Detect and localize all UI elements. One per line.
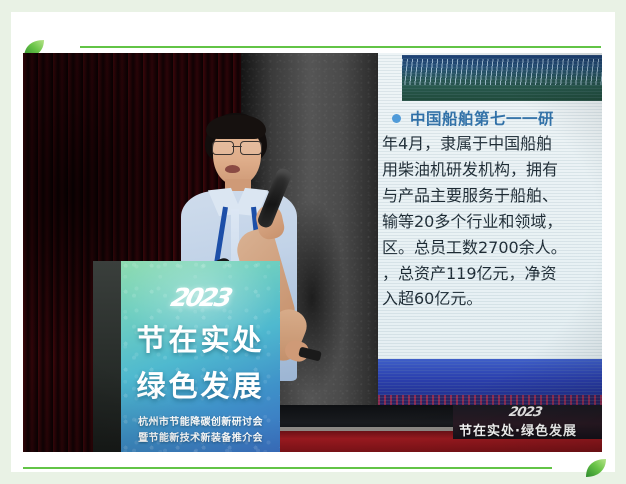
podium: 2023 节在实处 绿色发展 杭州市节能降碳创新研讨会 暨节能新技术新装备推介会 — [93, 261, 280, 452]
glasses-icon — [212, 141, 262, 153]
slide-line: 与产品主要服务于船舶、 — [382, 183, 602, 209]
bullet-icon — [392, 114, 401, 123]
slide-header-image — [402, 55, 602, 101]
podium-subtitle-line2: 暨节能新技术新装备推介会 — [121, 429, 280, 444]
podium-title-line2: 绿色发展 — [121, 363, 280, 405]
bottom-rule — [23, 467, 552, 469]
speaker-mouth — [225, 165, 240, 173]
stage-banner-text: 节在实处·绿色发展 — [459, 420, 602, 439]
slide-line: 区。总员工数2700余人。 — [382, 235, 602, 261]
inner-card: 中国船舶第七一一研 年4月，隶属于中国船舶 用柴油机研发机构，拥有 与产品主要服… — [11, 12, 615, 472]
podium-subtitle-line1: 杭州市节能降碳创新研讨会 — [121, 413, 280, 428]
slide-heading: 中国船舶第七一一研 — [410, 107, 554, 129]
slide-line: 用柴油机研发机构，拥有 — [382, 157, 602, 183]
slide-line: 年4月，隶属于中国船舶 — [382, 131, 602, 157]
podium-year-logo: 2023 — [121, 283, 280, 312]
podium-side-panel — [93, 261, 123, 452]
slide-text-lines: 年4月，隶属于中国船舶 用柴油机研发机构，拥有 与产品主要服务于船舶、 输等20… — [382, 131, 602, 312]
leaf-icon — [585, 458, 607, 478]
slide-body: 中国船舶第七一一研 年4月，隶属于中国船舶 用柴油机研发机构，拥有 与产品主要服… — [378, 101, 602, 359]
slide-line: 入超60亿元。 — [382, 286, 602, 312]
podium-sign: 2023 节在实处 绿色发展 杭州市节能降碳创新研讨会 暨节能新技术新装备推介会 — [121, 261, 280, 452]
conference-photo: 中国船舶第七一一研 年4月，隶属于中国船舶 用柴油机研发机构，拥有 与产品主要服… — [23, 53, 602, 452]
slide-image-texture — [402, 59, 602, 85]
glasses-lens-left — [212, 141, 234, 155]
page-frame: 中国船舶第七一一研 年4月，隶属于中国船舶 用柴油机研发机构，拥有 与产品主要服… — [0, 0, 626, 484]
top-rule — [80, 46, 601, 48]
stage-banner-logo: 2023 — [507, 405, 570, 421]
slide-line: ，总资产119亿元，净资 — [382, 261, 602, 287]
slide-line: 输等20多个行业和领域， — [382, 209, 602, 235]
slide-heading-row: 中国船舶第七一一研 — [392, 107, 602, 129]
projection-screen: 中国船舶第七一一研 年4月，隶属于中国船舶 用柴油机研发机构，拥有 与产品主要服… — [378, 53, 602, 425]
podium-title-line1: 节在实处 — [121, 317, 280, 359]
speaker-hair-front — [206, 115, 266, 139]
stage-banner: 2023 节在实处·绿色发展 — [453, 405, 602, 439]
glasses-lens-right — [240, 141, 262, 155]
